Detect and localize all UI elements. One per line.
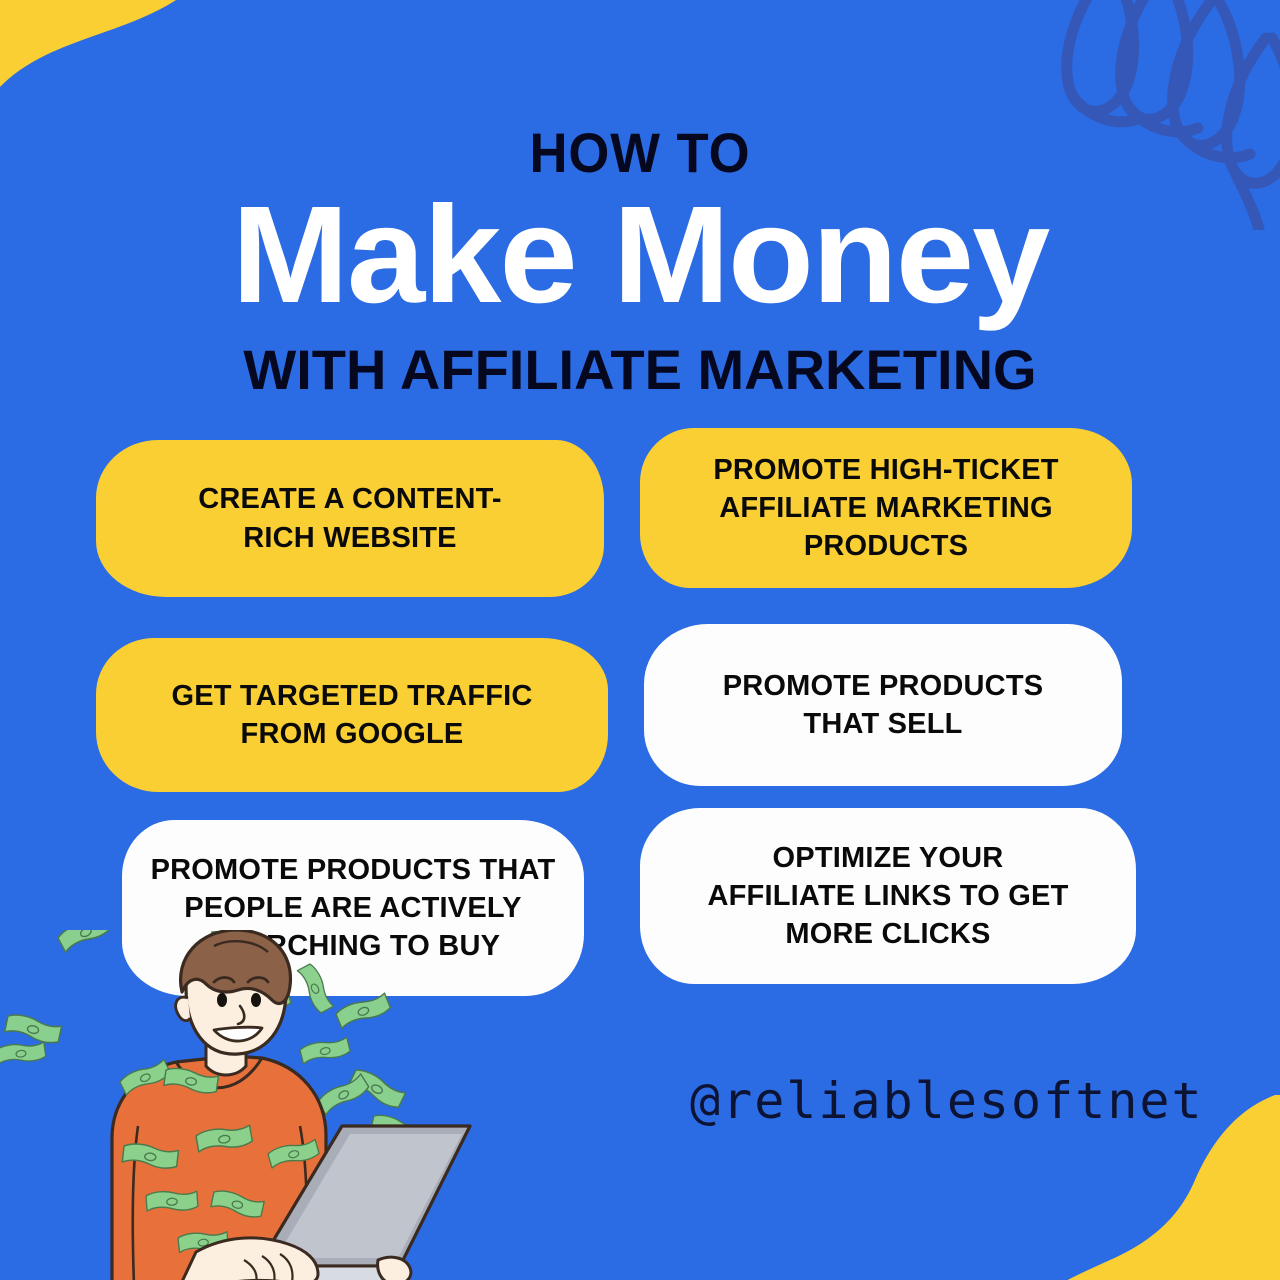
- tip-card-label: CREATE A CONTENT- RICH WEBSITE: [198, 480, 502, 557]
- social-handle: @reliablesoftnet: [690, 1072, 1204, 1130]
- tip-card-optimize-affiliate-links[interactable]: OPTIMIZE YOUR AFFILIATE LINKS TO GET MOR…: [640, 808, 1136, 984]
- tip-card-label: OPTIMIZE YOUR AFFILIATE LINKS TO GET MOR…: [708, 839, 1069, 954]
- tip-card-get-targeted-traffic-from-google[interactable]: GET TARGETED TRAFFIC FROM GOOGLE: [96, 638, 608, 792]
- person-with-laptop-illustration: [0, 930, 520, 1280]
- kicker-text: HOW TO: [38, 125, 1241, 181]
- infographic-poster: HOW TO Make Money WITH AFFILIATE MARKETI…: [0, 0, 1280, 1280]
- subtitle-text: WITH AFFILIATE MARKETING: [0, 342, 1280, 398]
- tip-card-promote-high-ticket-products[interactable]: PROMOTE HIGH-TICKET AFFILIATE MARKETING …: [640, 428, 1132, 588]
- tip-card-create-content-rich-website[interactable]: CREATE A CONTENT- RICH WEBSITE: [96, 440, 604, 597]
- tip-card-label: PROMOTE HIGH-TICKET AFFILIATE MARKETING …: [713, 451, 1058, 566]
- tip-card-promote-products-that-sell[interactable]: PROMOTE PRODUCTS THAT SELL: [644, 624, 1122, 786]
- page-title: Make Money: [0, 185, 1280, 326]
- headline-block: HOW TO Make Money WITH AFFILIATE MARKETI…: [0, 125, 1280, 398]
- tip-card-label: PROMOTE PRODUCTS THAT SELL: [723, 667, 1044, 744]
- tip-card-label: GET TARGETED TRAFFIC FROM GOOGLE: [171, 677, 532, 754]
